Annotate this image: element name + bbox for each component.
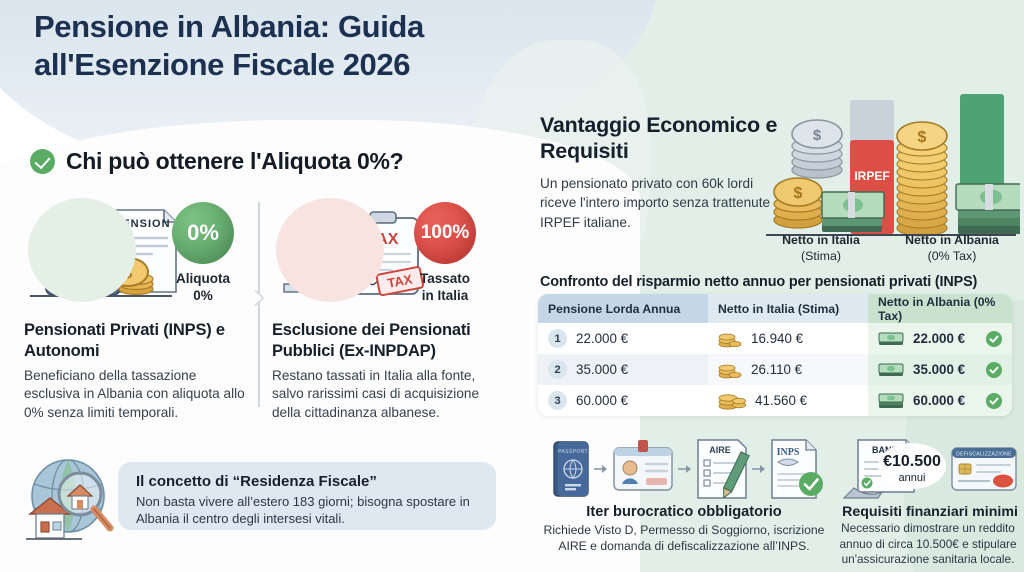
card-0-title: Pensionati Privati (INPS) e Autonomi [24,320,246,362]
svg-text:PASSPORT: PASSPORT [558,449,588,455]
right-section-heading: Vantaggio Economico e Requisiti [540,112,790,164]
rate-badge-0-label: Aliquota0% [155,270,251,305]
bureaucratic-steps-icon: PASSPORT AIRE INPS [540,436,828,502]
cell-gross: 22.000 € [576,331,628,346]
cell-albania: 35.000 € [913,362,965,377]
column-header-gross: Pensione Lorda Annua [538,294,708,323]
iter-title: Iter burocratico obbligatorio [540,504,828,520]
requisiti-body: Necessario dimostrare un reddito annuo d… [830,521,1024,568]
left-section-heading: Chi può ottenere l'Aliquota 0%? [30,148,403,175]
eligibility-cards: PENSION [24,196,494,423]
svg-text:AIRE: AIRE [709,445,731,455]
coins-icon [718,330,742,348]
cell-albania: 22.000 € [913,331,965,346]
card-public-pensioners: TAX TAX 100% Tassatoin Italia Esclusione… [272,196,494,423]
table-title: Confronto del risparmio netto annuo per … [540,274,977,290]
residenza-title: Il concetto di “Residenza Fiscale” [136,473,480,490]
cell-gross: 60.000 € [576,393,628,408]
card-0-body: Beneficiano della tassazione esclusiva i… [24,367,246,423]
check-circle-icon [986,331,1002,347]
requisiti-title: Requisiti finanziari minimi [836,504,1024,520]
rate-badge-100: 100% [414,202,476,264]
svg-text:$: $ [813,127,822,144]
card-1-title: Esclusione dei Pensionati Pubblici (Ex-I… [272,320,494,362]
check-circle-icon [986,362,1002,378]
check-circle-icon [30,149,55,174]
iter-body: Richiede Visto D, Permesso di Soggiorno,… [534,522,834,554]
page-title: Pensione in Albania: Guida all'Esenzione… [34,8,514,84]
right-section-subtitle: Un pensionato privato con 60k lordi rice… [540,174,786,232]
table-row[interactable]: 1 22.000 € 16.940 € [538,323,1012,354]
cell-albania: 60.000 € [913,393,965,408]
cell-gross: 35.000 € [576,362,628,377]
comparison-label-italy: Netto in Italia (Stima) [760,232,882,264]
residenza-fiscale-banner: Il concetto di “Residenza Fiscale” Non b… [118,462,496,530]
coins-icon [718,392,746,410]
briefcase-money-pension-document-icon: PENSION [24,196,246,308]
cell-italy: 26.110 € [751,362,802,377]
svg-text:$: $ [794,185,803,202]
svg-text:DEFISCALIZZAZIONE: DEFISCALIZZAZIONE [956,452,1012,458]
residenza-body: Non basta vivere all’estero 183 giorni; … [136,493,480,528]
card-divider [246,196,272,423]
amount-value: €10.500 [883,453,941,470]
column-header-italy: Netto in Italia (Stima) [708,294,868,323]
amount-unit: annui [899,472,926,484]
card-1-body: Restano tassati in Italia alla fonte, sa… [272,367,494,423]
column-header-albania: Netto in Albania (0% Tax) [868,294,1012,323]
row-number: 3 [548,391,567,410]
globe-magnifier-house-icon [24,452,120,544]
bank-tax-clipboard-icon: TAX TAX 100% Tassatoin Italia [272,196,494,308]
irpef-label: IRPEF [854,169,889,183]
table-row[interactable]: 2 35.000 € 26.110 € [538,354,1012,385]
cell-italy: 41.560 € [755,393,807,408]
chevron-right-icon [253,288,265,308]
row-number: 1 [548,329,567,348]
rate-badge-100-label: Tassatoin Italia [397,270,493,305]
cash-icon [878,362,904,378]
coins-icon [718,361,742,379]
cash-icon [878,331,904,347]
financial-requirements-icon: BANK €10.500 annui DEFISCALIZZAZIONE [840,436,1022,502]
svg-text:INPS: INPS [777,447,800,458]
savings-comparison-table: Pensione Lorda Annua Netto in Italia (St… [538,294,1012,416]
check-circle-icon [986,393,1002,409]
comparison-label-albania: Netto in Albania (0% Tax) [888,232,1016,264]
table-body: 1 22.000 € 16.940 € [538,323,1012,416]
table-header: Pensione Lorda Annua Netto in Italia (St… [538,294,1012,323]
rate-badge-0: 0% [172,202,234,264]
card-private-pensioners: PENSION [24,196,246,423]
svg-text:$: $ [918,129,927,146]
cell-italy: 16.940 € [751,331,803,346]
row-number: 2 [548,360,567,379]
table-row[interactable]: 3 60.000 € 41.560 € [538,385,1012,416]
cash-icon [878,393,904,409]
left-heading-label: Chi può ottenere l'Aliquota 0%? [66,148,403,175]
